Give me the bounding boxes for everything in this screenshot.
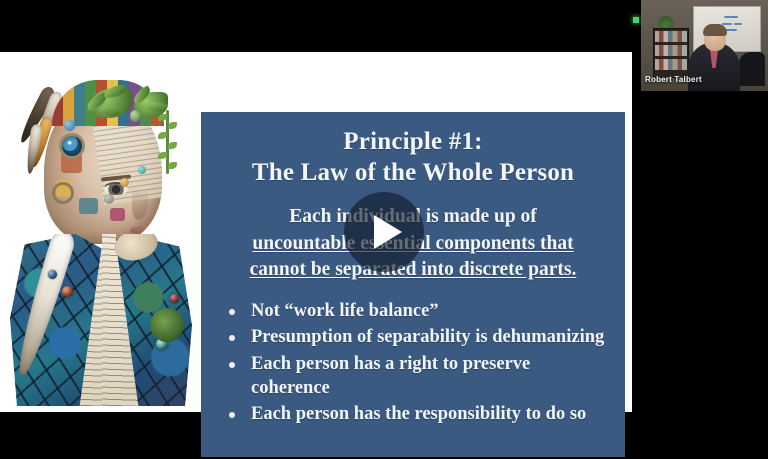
lens-gear-icon xyxy=(62,136,82,156)
shelf-row-3 xyxy=(655,59,687,70)
face-patch-3 xyxy=(79,198,98,213)
whiteboard-mark-2 xyxy=(722,23,732,25)
face-patch-4 xyxy=(110,208,125,222)
jewel-amber xyxy=(120,178,129,187)
orb-crimson xyxy=(170,294,179,303)
play-button[interactable] xyxy=(344,192,424,272)
person-hair xyxy=(703,24,727,36)
moss-disc xyxy=(150,308,184,342)
participant-name-label: Robert Talbert xyxy=(645,75,702,84)
recording-status-indicator xyxy=(633,17,639,23)
hanging-vine xyxy=(166,110,169,174)
collage-illustration xyxy=(8,58,194,406)
office-chair xyxy=(739,52,765,86)
video-player-stage: Principle #1: The Law of the Whole Perso… xyxy=(0,0,768,459)
slide-lede-line-3: cannot be separated into discrete parts. xyxy=(211,257,615,284)
jewel-teal xyxy=(138,166,146,174)
list-item: Presumption of separability is dehumaniz… xyxy=(227,326,611,350)
ear-ring-icon xyxy=(52,182,74,204)
jewel-blue xyxy=(64,120,75,131)
whiteboard-mark-1 xyxy=(724,16,738,18)
slide-bullet-list: Not “work life balance” Presumption of s… xyxy=(211,300,615,427)
torso-mosaic-coat xyxy=(10,234,192,406)
manuscript-texture xyxy=(93,112,162,206)
jewel-stone xyxy=(104,194,114,204)
orb-blue xyxy=(48,270,57,279)
slide-title: Principle #1: The Law of the Whole Perso… xyxy=(211,126,615,188)
illustration-canvas xyxy=(8,58,194,406)
slide-title-line-2: The Law of the Whole Person xyxy=(211,157,615,188)
plant xyxy=(659,16,673,28)
list-item: Not “work life balance” xyxy=(227,300,611,324)
list-item: Each person has a right to preserve cohe… xyxy=(227,353,611,400)
bookshelf xyxy=(653,28,689,78)
shelf-row-1 xyxy=(655,31,687,42)
slide-title-line-1: Principle #1: xyxy=(211,126,615,157)
list-item: Each person has the responsibility to do… xyxy=(227,403,611,427)
shelf-row-2 xyxy=(655,45,687,56)
play-triangle-icon xyxy=(374,215,402,249)
orb-red xyxy=(62,286,73,297)
slide-content-panel: Principle #1: The Law of the Whole Perso… xyxy=(201,112,625,457)
jewel-green xyxy=(130,110,140,122)
whiteboard-mark-3 xyxy=(734,23,742,25)
nose xyxy=(132,188,148,220)
webcam-thumbnail[interactable]: Robert Talbert xyxy=(641,0,768,91)
presentation-slide: Principle #1: The Law of the Whole Perso… xyxy=(0,52,632,412)
